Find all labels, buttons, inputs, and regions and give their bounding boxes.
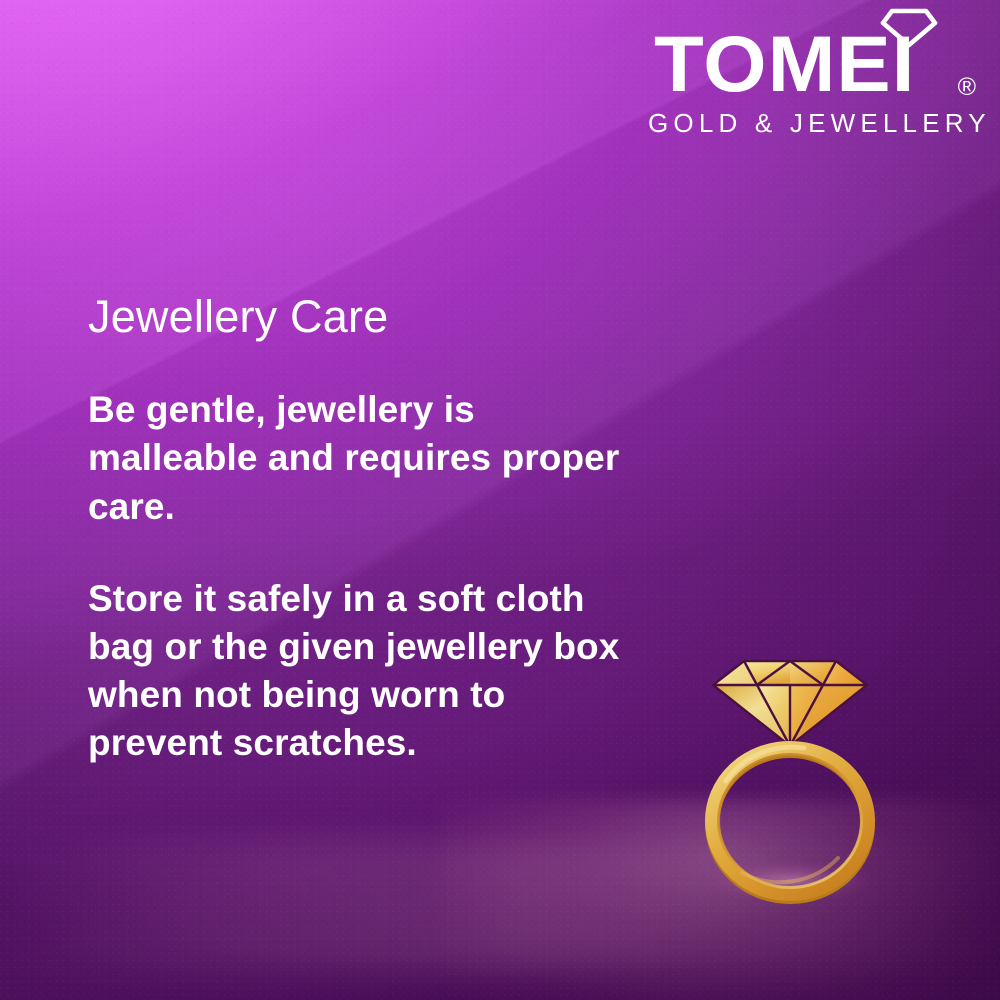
diamond-ring-illustration — [700, 645, 880, 905]
diamond-gem — [713, 661, 867, 746]
jewellery-care-poster: TOMEI ® GOLD & JEWELLERY Jewellery Care … — [0, 0, 1000, 1000]
body-paragraph-1: Be gentle, jewellery is malleable and re… — [88, 386, 633, 530]
tomei-logo[interactable]: TOMEI ® GOLD & JEWELLERY — [648, 16, 978, 139]
diamond-outline-icon — [880, 8, 938, 48]
brand-wordmark: TOMEI — [654, 25, 915, 102]
page-title: Jewellery Care — [88, 292, 648, 342]
copy-block: Jewellery Care Be gentle, jewellery is m… — [88, 292, 648, 767]
brand-tagline: GOLD & JEWELLERY — [648, 108, 978, 139]
body-paragraph-2: Store it safely in a soft cloth bag or t… — [88, 575, 633, 767]
registered-trademark-symbol: ® — [958, 75, 976, 100]
logo-wordmark-row: TOMEI ® — [648, 16, 978, 102]
